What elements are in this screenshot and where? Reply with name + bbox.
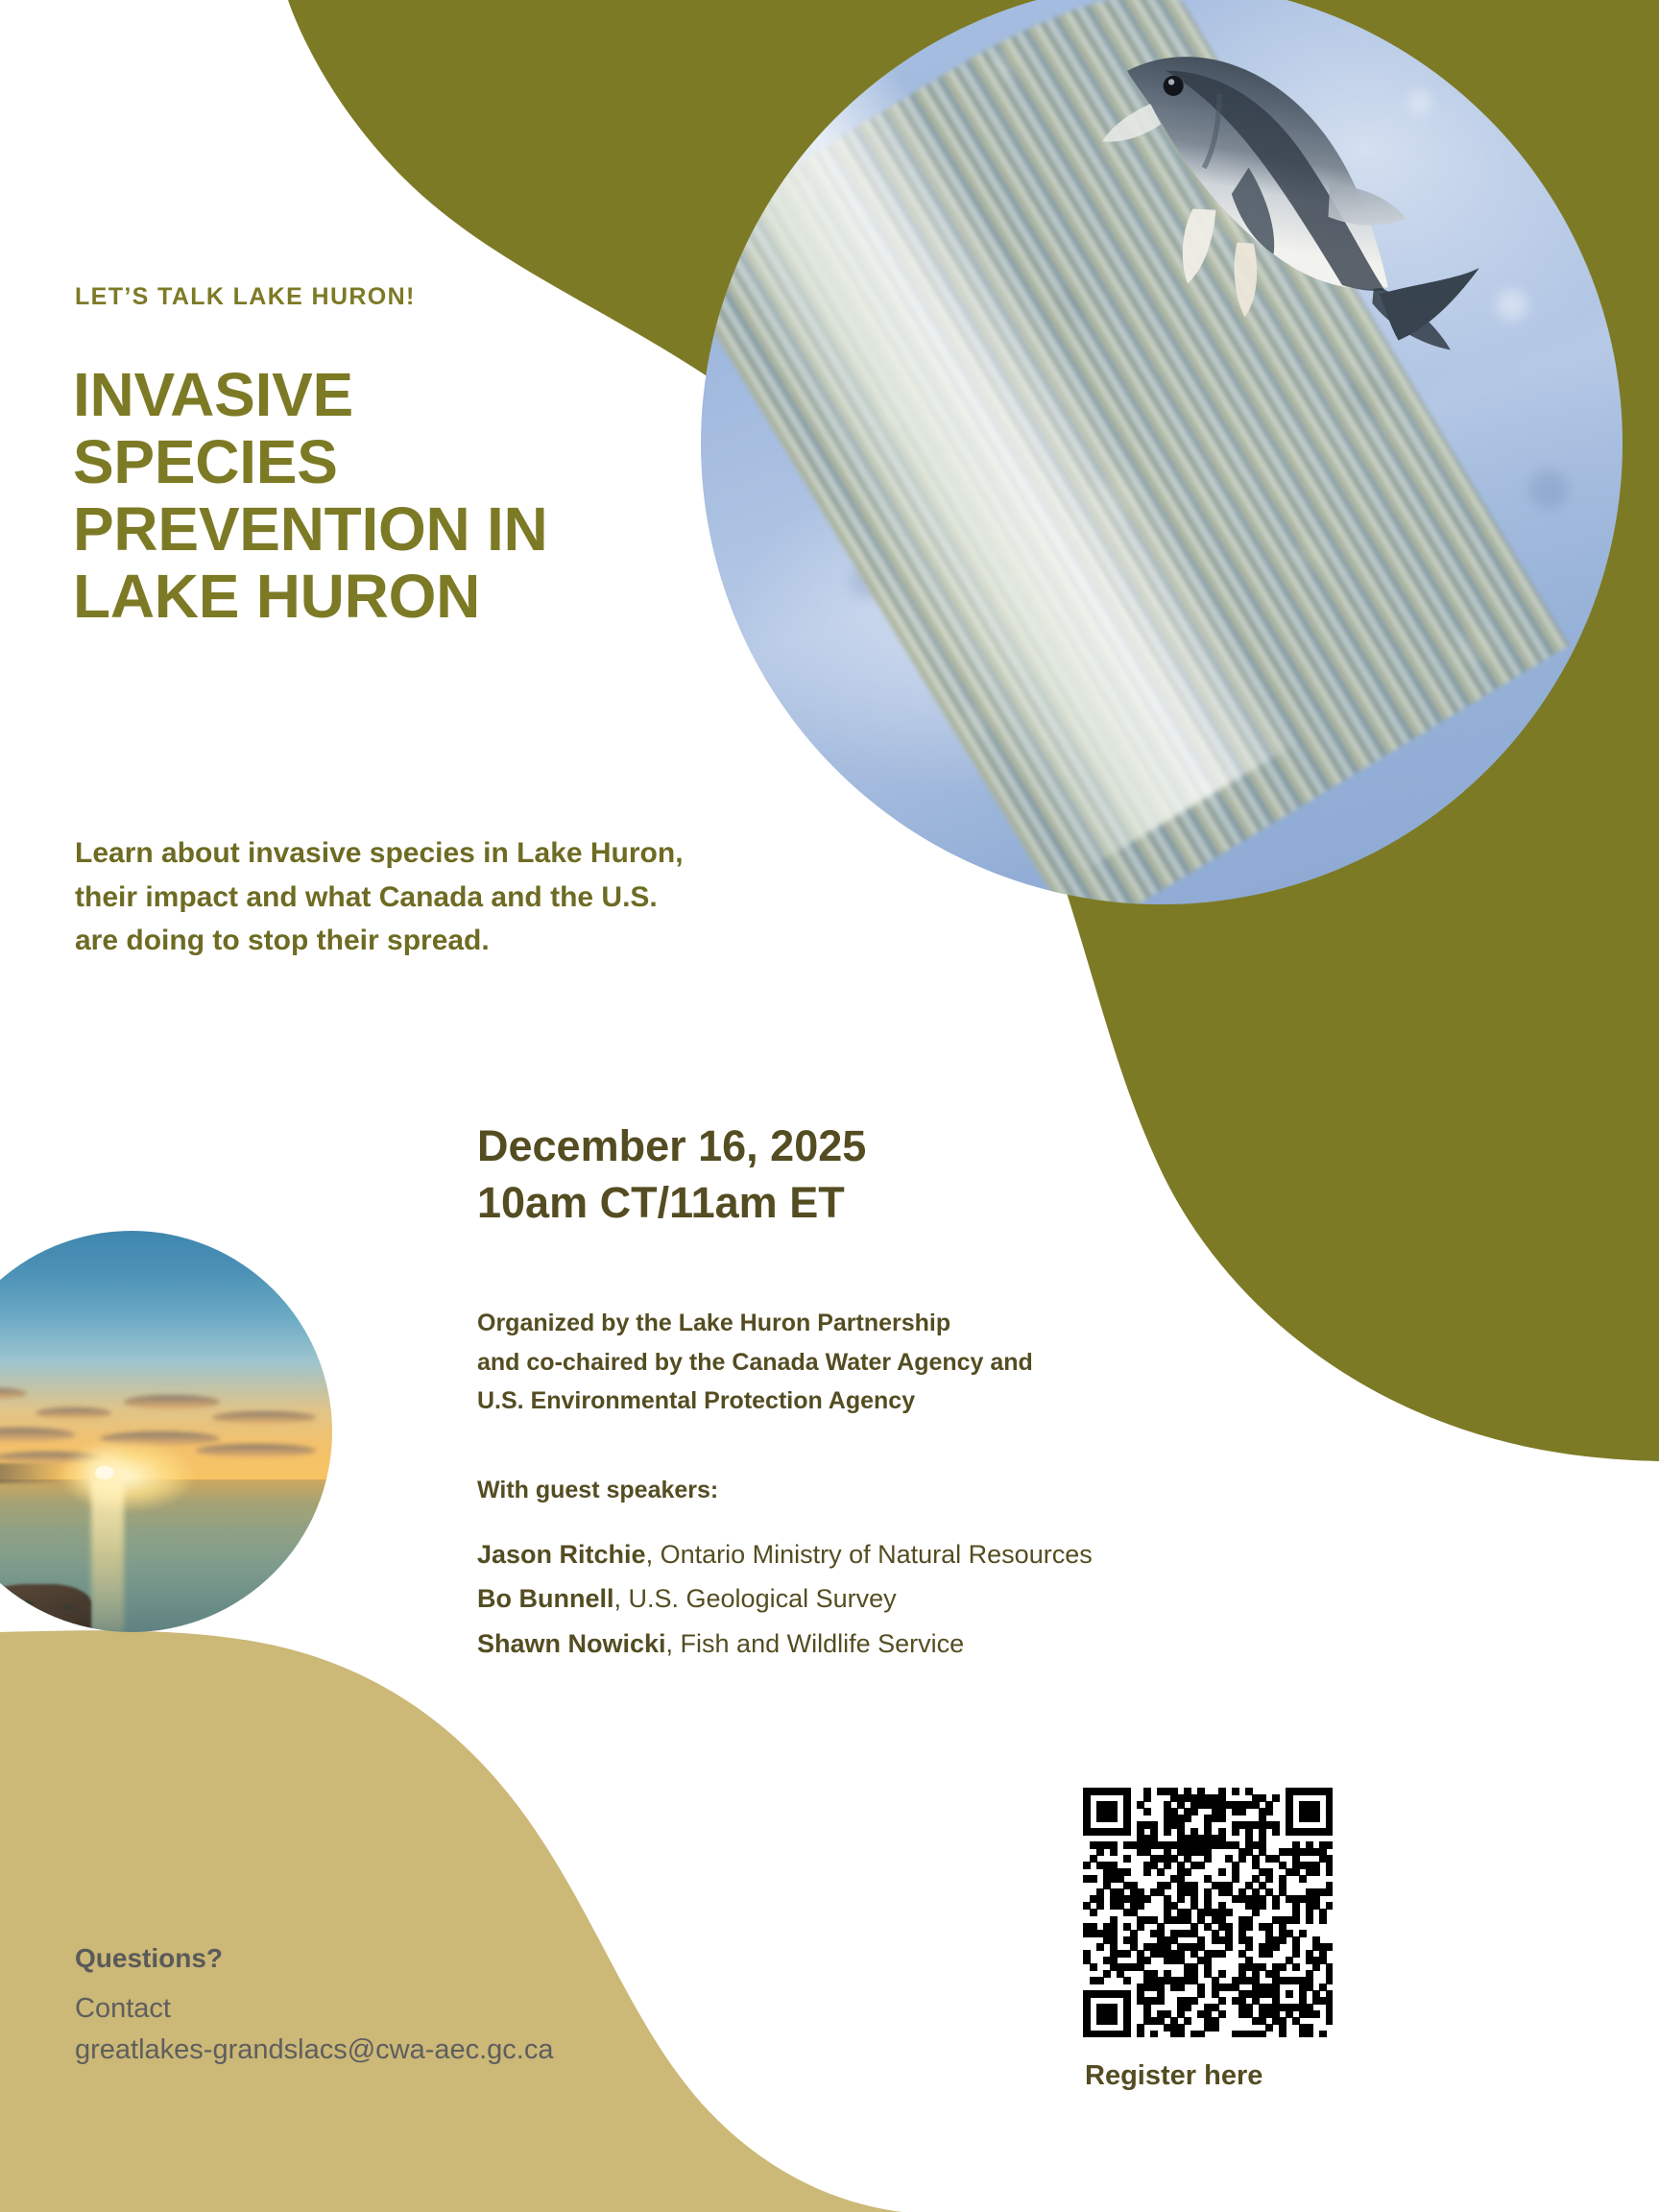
speaker-row: Shawn Nowicki, Fish and Wildlife Service <box>477 1622 1303 1666</box>
eyebrow-text: LET’S TALK LAKE HURON! <box>75 283 416 311</box>
speaker-name: Bo Bunnell <box>477 1584 614 1613</box>
speaker-row: Jason Ritchie, Ontario Ministry of Natur… <box>477 1532 1303 1576</box>
leaping-fish-waterfall-photo <box>701 0 1623 904</box>
speaker-affiliation: , U.S. Geological Survey <box>614 1584 897 1613</box>
speaker-affiliation: , Fish and Wildlife Service <box>666 1629 965 1658</box>
event-datetime: December 16, 2025 10am CT/11am ET <box>477 1118 866 1231</box>
qr-code-canvas[interactable] <box>1083 1788 1333 2037</box>
qr-code-icon[interactable] <box>1083 1788 1333 2037</box>
speakers-label: With guest speakers: <box>477 1477 718 1504</box>
cloud <box>124 1395 220 1408</box>
page-title: INVASIVE SPECIES PREVENTION IN LAKE HURO… <box>73 361 611 630</box>
speaker-name: Shawn Nowicki <box>477 1629 666 1658</box>
lake-sunset-photo <box>0 1231 332 1632</box>
speaker-affiliation: , Ontario Ministry of Natural Resources <box>646 1540 1093 1569</box>
contact-text: Contact greatlakes-grandslacs@cwa-aec.gc… <box>75 1988 766 2070</box>
register-here-label[interactable]: Register here <box>1085 2060 1262 2092</box>
speakers-list: Jason Ritchie, Ontario Ministry of Natur… <box>477 1532 1303 1666</box>
sun-icon <box>95 1466 114 1479</box>
waterfowl <box>23 1600 34 1606</box>
speaker-row: Bo Bunnell, U.S. Geological Survey <box>477 1576 1303 1621</box>
questions-title: Questions? <box>75 1943 223 1974</box>
speaker-name: Jason Ritchie <box>477 1540 646 1569</box>
poster-canvas: LET’S TALK LAKE HURON! INVASIVE SPECIES … <box>0 0 1659 2212</box>
organizer-text: Organized by the Lake Huron Partnership … <box>477 1304 1236 1421</box>
sun-glow <box>60 1439 196 1511</box>
foreground-rock <box>0 1584 91 1632</box>
sun-reflection <box>91 1479 123 1632</box>
description-text: Learn about invasive species in Lake Hur… <box>75 831 689 963</box>
cloud <box>196 1444 316 1457</box>
far-shoreline <box>0 1463 67 1483</box>
waterfowl <box>63 1604 74 1610</box>
